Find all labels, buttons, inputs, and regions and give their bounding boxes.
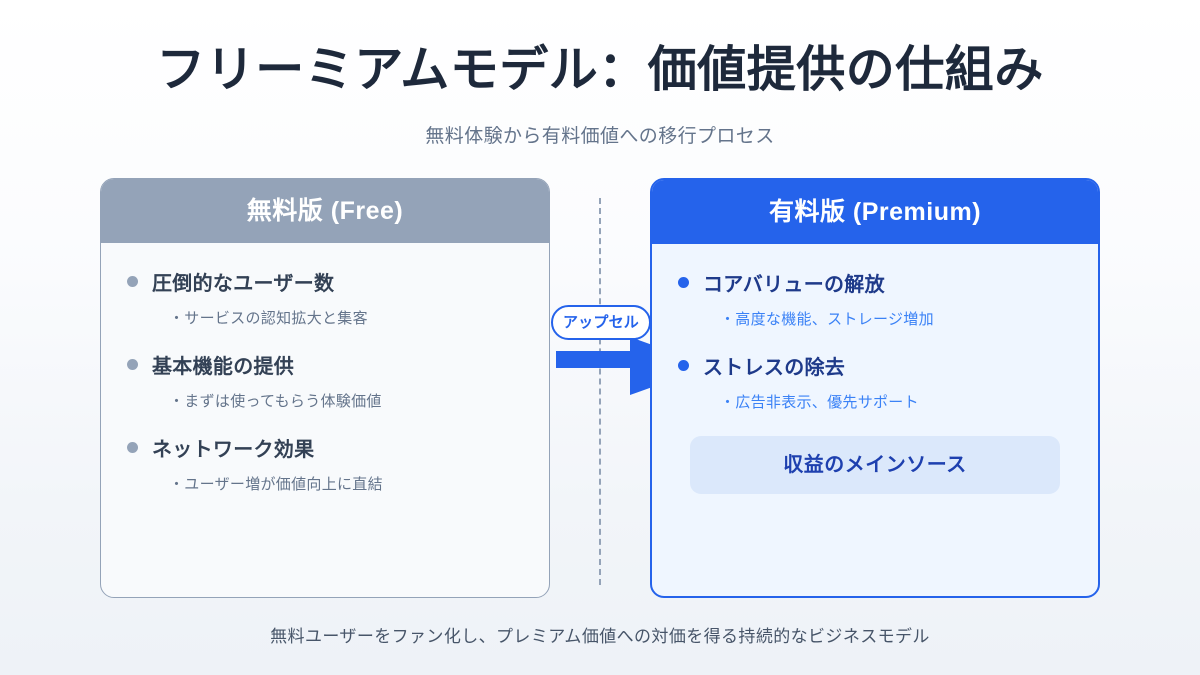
free-feature-desc: ・サービスの認知拡大と集客 [169,307,523,328]
bullet-dot-icon [678,360,689,371]
free-feature-title: 基本機能の提供 [152,350,294,379]
premium-feature-desc: ・高度な機能、ストレージ増加 [720,308,1072,329]
premium-feature-title: ストレスの除去 [703,351,845,380]
free-feature-title: ネットワーク効果 [152,433,314,462]
bullet-dot-icon [127,276,138,287]
free-feature-desc: ・ユーザー増が価値向上に直結 [169,473,523,494]
bullet-dot-icon [127,359,138,370]
free-plan-header: 無料版 (Free) [101,179,549,243]
free-feature-item: 基本機能の提供 ・まずは使ってもらう体験価値 [127,350,523,411]
premium-feature-title-row: ストレスの除去 [678,351,1072,380]
slide-canvas: フリーミアムモデル：価値提供の仕組み 無料体験から有料価値への移行プロセス 無料… [0,0,1200,675]
free-feature-title: 圧倒的なユーザー数 [152,267,334,296]
bullet-dot-icon [127,442,138,453]
premium-plan-body: コアバリューの解放 ・高度な機能、ストレージ増加 ストレスの除去 ・広告非表示、… [652,244,1098,494]
premium-plan-card: 有料版 (Premium) コアバリューの解放 ・高度な機能、ストレージ増加 ス… [650,178,1100,598]
free-plan-card: 無料版 (Free) 圧倒的なユーザー数 ・サービスの認知拡大と集客 基本機能の… [100,178,550,598]
upsell-badge: アップセル [551,305,651,340]
free-feature-item: ネットワーク効果 ・ユーザー増が価値向上に直結 [127,433,523,494]
premium-feature-item: コアバリューの解放 ・高度な機能、ストレージ増加 [678,268,1072,329]
free-plan-body: 圧倒的なユーザー数 ・サービスの認知拡大と集客 基本機能の提供 ・まずは使っても… [101,243,549,494]
premium-feature-title-row: コアバリューの解放 [678,268,1072,297]
bullet-dot-icon [678,277,689,288]
footer-caption: 無料ユーザーをファン化し、プレミアム価値への対価を得る持続的なビジネスモデル [0,622,1200,647]
free-feature-title-row: 圧倒的なユーザー数 [127,267,523,296]
free-feature-item: 圧倒的なユーザー数 ・サービスの認知拡大と集客 [127,267,523,328]
page-subtitle: 無料体験から有料価値への移行プロセス [0,121,1200,148]
free-feature-title-row: ネットワーク効果 [127,433,523,462]
page-title: フリーミアムモデル：価値提供の仕組み [0,42,1200,98]
free-feature-title-row: 基本機能の提供 [127,350,523,379]
revenue-highlight-box: 収益のメインソース [690,436,1060,494]
premium-feature-item: ストレスの除去 ・広告非表示、優先サポート [678,351,1072,412]
premium-feature-desc: ・広告非表示、優先サポート [720,391,1072,412]
free-feature-desc: ・まずは使ってもらう体験価値 [169,390,523,411]
premium-feature-title: コアバリューの解放 [703,268,885,297]
premium-plan-header: 有料版 (Premium) [652,180,1098,244]
